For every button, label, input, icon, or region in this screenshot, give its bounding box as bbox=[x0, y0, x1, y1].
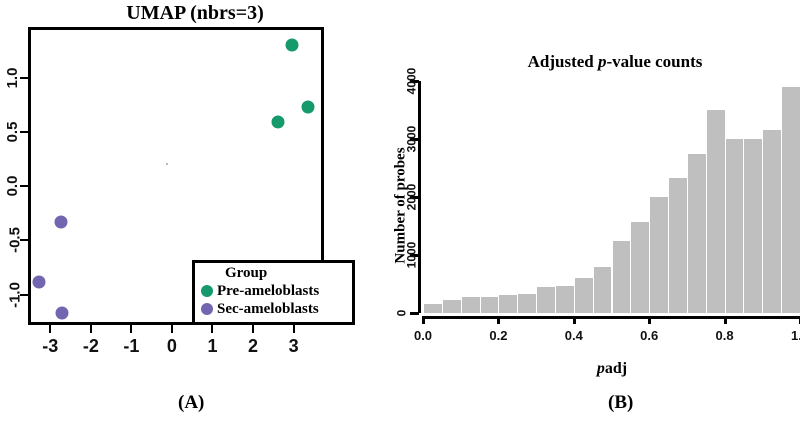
histogram-x-tick-label: 0.4 bbox=[565, 328, 583, 343]
histogram-bar[interactable] bbox=[574, 278, 593, 313]
umap-plot-title: UMAP (nbrs=3) bbox=[30, 2, 360, 25]
umap-y-tick-label: 0.5 bbox=[4, 122, 21, 143]
umap-x-tick-label: 1 bbox=[207, 336, 217, 357]
histogram-bar[interactable] bbox=[536, 287, 555, 313]
umap-y-tick-label: -0.5 bbox=[6, 228, 23, 254]
histogram-xlab-adj: adj bbox=[605, 360, 627, 377]
histogram-x-tick-label: 0.6 bbox=[640, 328, 658, 343]
umap-x-tick-label: 3 bbox=[289, 336, 299, 357]
histogram-x-tick-label: 0.2 bbox=[489, 328, 507, 343]
legend-swatch-purple-icon bbox=[201, 303, 213, 315]
umap-data-point[interactable] bbox=[301, 101, 314, 114]
histogram-bar[interactable] bbox=[480, 297, 499, 313]
legend-swatch-green-icon bbox=[201, 285, 213, 297]
umap-data-point[interactable] bbox=[32, 275, 45, 288]
histogram-bar[interactable] bbox=[706, 110, 725, 313]
umap-x-tick-label: -2 bbox=[83, 336, 99, 357]
umap-y-tick-label: -1.0 bbox=[6, 282, 23, 308]
umap-y-tick bbox=[20, 185, 28, 187]
histogram-x-axis-line bbox=[423, 316, 800, 319]
umap-x-tick bbox=[90, 325, 92, 333]
histogram-y-tick-label: 4000 bbox=[404, 68, 418, 95]
histogram-x-tick bbox=[422, 316, 425, 324]
panel-tag-b: (B) bbox=[608, 392, 633, 414]
umap-y-tick-label: 1.0 bbox=[4, 67, 21, 88]
umap-y-tick bbox=[20, 77, 28, 79]
histogram-x-tick bbox=[573, 316, 576, 324]
histogram-bar[interactable] bbox=[762, 130, 781, 313]
umap-x-tick-label: -3 bbox=[42, 336, 58, 357]
histogram-x-axis-title: padj bbox=[597, 360, 627, 378]
figure-root: UMAP (nbrs=3) 1.00.50.0-0.5-1.0 -3-2-101… bbox=[0, 0, 800, 435]
umap-data-point[interactable] bbox=[55, 307, 68, 320]
histogram-y-tick-label: 0 bbox=[394, 310, 408, 317]
histogram-title-italic-p: p bbox=[598, 52, 607, 71]
histogram-x-tick-label: 1.0 bbox=[791, 328, 800, 343]
histogram-bar[interactable] bbox=[461, 297, 480, 313]
histogram-x-tick-label: 0.8 bbox=[716, 328, 734, 343]
histogram-bar[interactable] bbox=[743, 139, 762, 313]
legend-label-pre-ameloblasts: Pre-ameloblasts bbox=[217, 282, 319, 300]
umap-x-tick-label: -1 bbox=[123, 336, 139, 357]
umap-x-tick bbox=[211, 325, 213, 333]
umap-data-point[interactable] bbox=[285, 39, 298, 52]
histogram-plot-title: Adjusted p-value counts bbox=[440, 52, 790, 72]
histogram-y-axis-title: Number of probes bbox=[393, 147, 410, 263]
umap-x-tick bbox=[252, 325, 254, 333]
umap-data-point[interactable] bbox=[272, 116, 285, 129]
histogram-bar[interactable] bbox=[668, 178, 687, 313]
umap-y-tick-label: 0.0 bbox=[4, 176, 21, 197]
umap-x-tick bbox=[49, 325, 51, 333]
umap-y-tick bbox=[20, 131, 28, 133]
histogram-x-tick bbox=[724, 316, 727, 324]
histogram-bar[interactable] bbox=[781, 87, 800, 313]
umap-x-tick-label: 2 bbox=[248, 336, 258, 357]
legend-label-sec-ameloblasts: Sec-ameloblasts bbox=[217, 300, 319, 318]
umap-data-point[interactable] bbox=[55, 216, 68, 229]
legend-title: Group bbox=[225, 265, 352, 282]
legend-item-pre-ameloblasts[interactable]: Pre-ameloblasts bbox=[201, 282, 352, 300]
histogram-bar[interactable] bbox=[612, 241, 631, 314]
histogram-xlab-italic-p: p bbox=[597, 360, 605, 377]
umap-x-tick bbox=[293, 325, 295, 333]
legend-item-sec-ameloblasts[interactable]: Sec-ameloblasts bbox=[201, 300, 352, 318]
histogram-bar[interactable] bbox=[498, 295, 517, 313]
panel-tag-a: (A) bbox=[178, 392, 204, 414]
panel-a-umap: UMAP (nbrs=3) 1.00.50.0-0.5-1.0 -3-2-101… bbox=[0, 0, 400, 435]
umap-x-tick-label: 0 bbox=[167, 336, 177, 357]
histogram-title-prefix: Adjusted bbox=[528, 52, 598, 71]
histogram-bar[interactable] bbox=[423, 304, 442, 313]
umap-ghost-marker bbox=[166, 163, 168, 165]
histogram-x-tick bbox=[497, 316, 500, 324]
panel-b-histogram: Adjusted p-value counts 0100020003000400… bbox=[400, 0, 800, 435]
histogram-x-tick bbox=[648, 316, 651, 324]
histogram-y-tick bbox=[410, 312, 419, 315]
histogram-bar[interactable] bbox=[630, 222, 649, 313]
histogram-bar[interactable] bbox=[593, 267, 612, 313]
histogram-bar[interactable] bbox=[725, 139, 744, 313]
umap-x-tick bbox=[171, 325, 173, 333]
histogram-bar[interactable] bbox=[555, 286, 574, 313]
histogram-x-tick-label: 0.0 bbox=[414, 328, 432, 343]
umap-legend: Group Pre-ameloblasts Sec-ameloblasts bbox=[192, 260, 355, 325]
histogram-bars-layer bbox=[423, 81, 800, 313]
histogram-bar[interactable] bbox=[687, 154, 706, 313]
histogram-bar[interactable] bbox=[649, 197, 668, 313]
histogram-title-suffix: -value counts bbox=[607, 52, 703, 71]
histogram-bar[interactable] bbox=[517, 294, 536, 313]
umap-x-tick bbox=[130, 325, 132, 333]
histogram-bar[interactable] bbox=[442, 300, 461, 313]
